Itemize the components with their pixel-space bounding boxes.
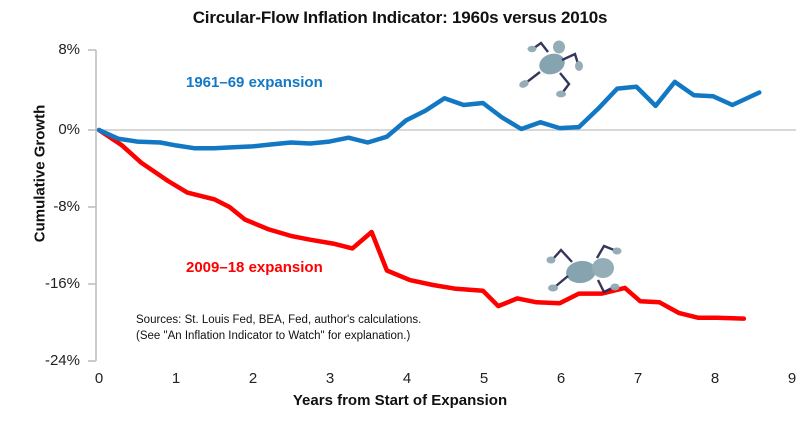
source-note-line-2: (See "An Inflation Indicator to Watch" f… [136, 328, 421, 344]
source-note-line-1: Sources: St. Louis Fed, BEA, Fed, author… [136, 312, 421, 328]
series-line-blue [99, 82, 759, 148]
series-line-red [99, 130, 744, 319]
plot-area [0, 0, 800, 430]
blue-series-label: 1961–69 expansion [186, 74, 323, 91]
red-series-label: 2009–18 expansion [186, 259, 323, 276]
y-axis-spine [88, 50, 96, 361]
chart-container: Circular-Flow Inflation Indicator: 1960s… [0, 0, 800, 430]
source-note: Sources: St. Louis Fed, BEA, Fed, author… [136, 312, 421, 344]
runner-figure-red-icon [547, 246, 622, 292]
runner-figure-blue-icon [518, 41, 583, 98]
